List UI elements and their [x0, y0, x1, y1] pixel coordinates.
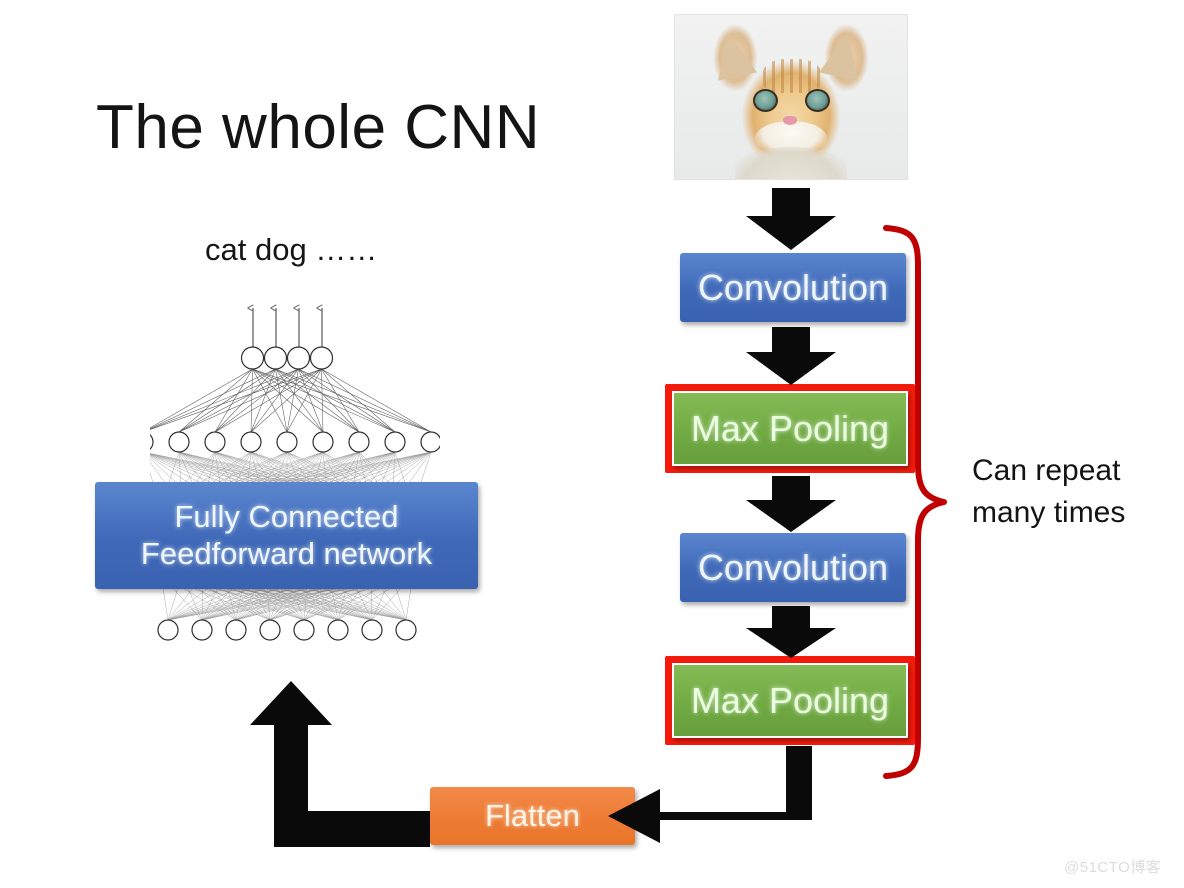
network-node-input-layer-5 [328, 620, 348, 640]
stage-max-pooling-1[interactable]: Max Pooling [672, 391, 908, 466]
network-node-input-layer-3 [260, 620, 280, 640]
stage-max-pooling-2[interactable]: Max Pooling [672, 663, 908, 738]
repeat-brace [878, 222, 960, 782]
network-node-hidden-layer-3-7 [385, 432, 405, 452]
network-node-hidden-layer-3-3 [241, 432, 261, 452]
output-classes-label: cat dog …… [205, 232, 377, 268]
network-node-hidden-layer-3-8 [421, 432, 440, 452]
network-node-input-layer-0 [158, 620, 178, 640]
cat-nose [783, 116, 797, 125]
repeat-note: Can repeat many times [972, 450, 1125, 534]
network-node-input-layer-1 [192, 620, 212, 640]
watermark: @51CTO博客 [1064, 856, 1161, 877]
stage-label: Convolution [698, 267, 888, 309]
network-node-hidden-layer-3-6 [349, 432, 369, 452]
brace-path [886, 228, 944, 776]
fc-label-line-1: Fully Connected [174, 499, 398, 536]
cat-eye-left [753, 89, 778, 112]
stage-label: Flatten [485, 798, 580, 834]
network-node-hidden-layer-3-1 [169, 432, 189, 452]
cat-forehead-stripes [763, 59, 821, 93]
cat-ear-right-icon [819, 29, 867, 80]
slide-canvas: The whole CNN cat dog …… [0, 0, 1184, 888]
network-node-output-layer-2 [288, 347, 310, 369]
network-node-hidden-layer-3-2 [205, 432, 225, 452]
network-node-hidden-layer-3-4 [277, 432, 297, 452]
arrow-conv1-to-pool1 [746, 327, 836, 385]
cat-eye-right [805, 89, 830, 112]
network-node-output-layer-0 [242, 347, 264, 369]
page-title: The whole CNN [96, 92, 540, 163]
arrow-image-to-conv1 [746, 188, 836, 250]
input-image-cat-photo [674, 14, 908, 180]
network-node-input-layer-6 [362, 620, 382, 640]
stage-fully-connected[interactable]: Fully Connected Feedforward network [95, 482, 478, 589]
network-edges-top [150, 369, 431, 432]
network-output-arrows [253, 308, 322, 348]
network-node-output-layer-1 [265, 347, 287, 369]
network-node-output-layer-3 [311, 347, 333, 369]
network-node-input-layer-2 [226, 620, 246, 640]
network-node-input-layer-4 [294, 620, 314, 640]
network-node-hidden-layer-3-5 [313, 432, 333, 452]
stage-flatten[interactable]: Flatten [430, 787, 635, 845]
arrow-conv2-to-pool2 [746, 606, 836, 658]
network-node-input-layer-7 [396, 620, 416, 640]
arrow-pool1-to-conv2 [746, 476, 836, 532]
cat-ear-left-icon [709, 29, 757, 80]
stage-label: Max Pooling [691, 408, 889, 450]
cat-chest [735, 147, 847, 180]
fc-label-line-2: Feedforward network [141, 536, 432, 573]
repeat-note-line-1: Can repeat [972, 450, 1125, 492]
stage-label: Max Pooling [691, 680, 889, 722]
stage-convolution-2[interactable]: Convolution [680, 533, 906, 602]
stage-convolution-1[interactable]: Convolution [680, 253, 906, 322]
network-node-hidden-layer-3-0 [150, 432, 153, 452]
repeat-note-line-2: many times [972, 492, 1125, 534]
stage-label: Convolution [698, 547, 888, 589]
arrow-pool2-to-flatten [608, 746, 812, 843]
